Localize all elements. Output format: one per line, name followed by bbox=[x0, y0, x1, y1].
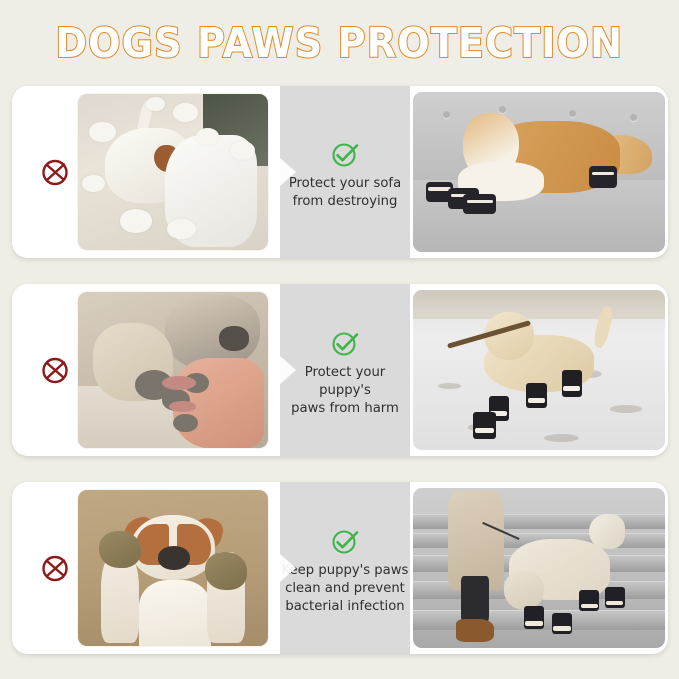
check-circle-icon bbox=[329, 328, 361, 360]
caption-line-1: Keep puppy's paws bbox=[282, 562, 409, 580]
after-photo bbox=[413, 290, 665, 450]
caption-line-2: paws from harm bbox=[291, 400, 399, 418]
feature-panel: Protect your sofa from destroying bbox=[12, 86, 668, 258]
caption-line-2: clean and prevent bbox=[285, 580, 405, 598]
before-photo bbox=[78, 94, 268, 250]
caption-strip: Protect your puppy's paws from harm bbox=[280, 284, 410, 456]
cross-circle-icon bbox=[38, 551, 72, 585]
caption-line-2: from destroying bbox=[293, 193, 398, 211]
before-zone bbox=[12, 284, 280, 456]
feature-panel: Keep puppy's paws clean and prevent bact… bbox=[12, 482, 668, 654]
feature-panel: Protect your puppy's paws from harm bbox=[12, 284, 668, 456]
after-zone bbox=[410, 482, 668, 654]
page-title: DOGS PAWS PROTECTION bbox=[56, 23, 624, 64]
before-photo bbox=[78, 292, 268, 448]
check-circle-icon bbox=[329, 139, 361, 171]
before-zone bbox=[12, 482, 280, 654]
caption-line-1: Protect your sofa bbox=[289, 175, 401, 193]
cross-circle-icon bbox=[38, 353, 72, 387]
caption-strip: Keep puppy's paws clean and prevent bact… bbox=[280, 482, 410, 654]
header: DOGS PAWS PROTECTION bbox=[0, 16, 679, 70]
after-photo bbox=[413, 488, 665, 648]
after-photo bbox=[413, 92, 665, 252]
caption-line-1: Protect your puppy's bbox=[280, 364, 410, 400]
before-photo bbox=[78, 490, 268, 646]
caption-strip: Protect your sofa from destroying bbox=[280, 86, 410, 258]
after-zone bbox=[410, 86, 668, 258]
check-circle-icon bbox=[329, 526, 361, 558]
after-zone bbox=[410, 284, 668, 456]
cross-circle-icon bbox=[38, 155, 72, 189]
caption-line-3: bacterial infection bbox=[285, 598, 404, 616]
before-zone bbox=[12, 86, 280, 258]
